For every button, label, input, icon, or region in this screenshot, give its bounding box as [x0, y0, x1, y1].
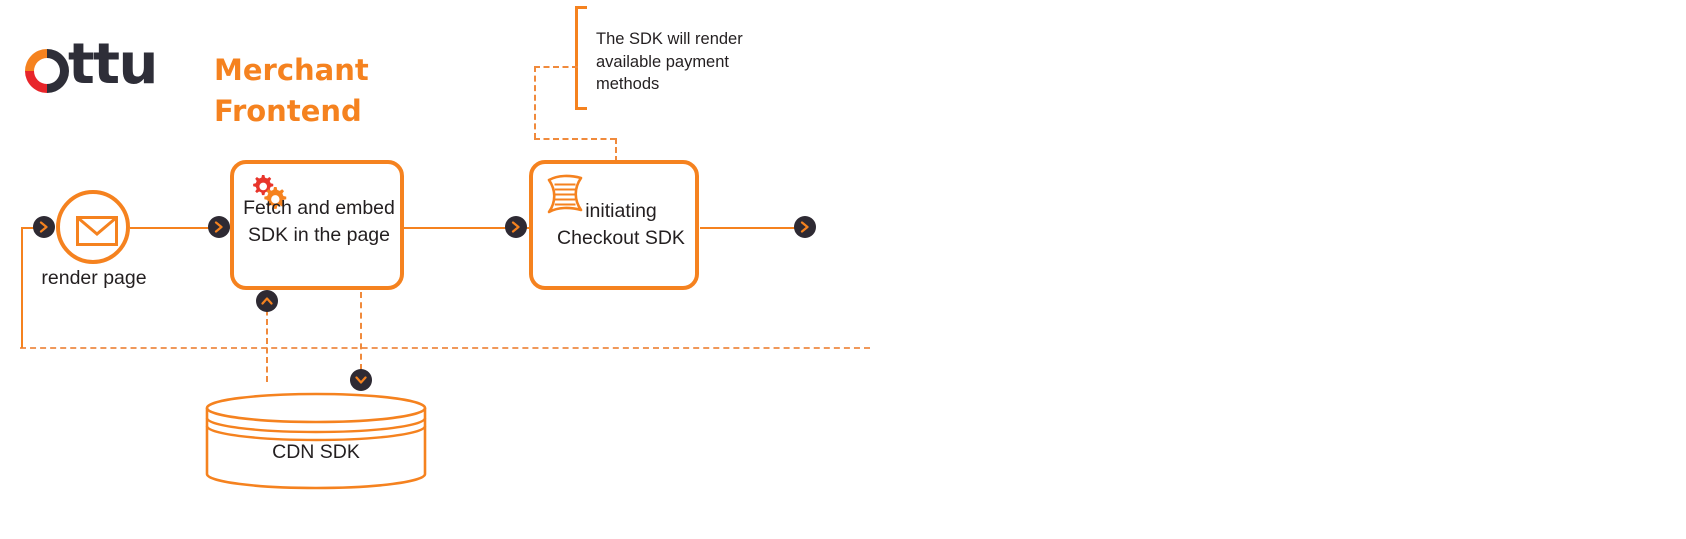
chevron-right-badge-entry[interactable]: [33, 216, 55, 238]
callout-leader-segment-v1: [534, 66, 536, 139]
chevron-right-icon: [511, 221, 521, 233]
chevron-right-badge-to-initiating[interactable]: [505, 216, 527, 238]
swimlane-divider: [20, 347, 870, 349]
diagram-canvas: ttu MerchantFrontend The SDK will render…: [0, 0, 1686, 539]
ottu-wordmark: ttu: [68, 37, 157, 93]
cdn-sdk-node[interactable]: CDN SDK: [205, 392, 427, 490]
initiating-checkout-sdk-node[interactable]: initiating Checkout SDK: [529, 160, 699, 290]
chevron-right-icon: [214, 221, 224, 233]
fetch-embed-sdk-node[interactable]: Fetch and embed SDK in the page: [230, 160, 404, 290]
fetch-embed-sdk-label: Fetch and embed SDK in the page: [240, 195, 398, 250]
callout-leader-segment-h1: [534, 66, 578, 68]
connector-initiating-to-exit: [700, 227, 806, 229]
chevron-right-badge-exit[interactable]: [794, 216, 816, 238]
ottu-logo: ttu: [22, 44, 172, 100]
chevron-right-icon: [39, 221, 49, 233]
connector-fetch-to-cdn-dashed: [360, 292, 362, 370]
cdn-sdk-label: CDN SDK: [205, 441, 427, 464]
callout-leader-segment-h2: [534, 138, 616, 140]
chevron-down-icon: [355, 375, 367, 385]
render-page-node[interactable]: [56, 190, 130, 264]
chevron-right-badge-to-fetch[interactable]: [208, 216, 230, 238]
ottu-donut-logo-icon: [22, 46, 72, 96]
connector-cdn-to-fetch-dashed: [266, 300, 268, 382]
chevron-down-badge-to-cdn[interactable]: [350, 369, 372, 391]
annotation-callout: The SDK will render available payment me…: [575, 6, 825, 116]
page-title: MerchantFrontend: [214, 50, 434, 132]
annotation-text: The SDK will render available payment me…: [596, 28, 766, 96]
envelope-icon: [76, 216, 118, 246]
initiating-checkout-sdk-label: initiating Checkout SDK: [547, 198, 695, 253]
chevron-up-badge-from-cdn[interactable]: [256, 290, 278, 312]
chevron-right-icon: [800, 221, 810, 233]
callout-leader-segment-v2: [615, 138, 617, 162]
left-bracket-icon: [575, 6, 587, 110]
chevron-up-icon: [261, 296, 273, 306]
entry-connector-vertical: [21, 228, 23, 348]
render-page-label: render page: [38, 265, 150, 292]
